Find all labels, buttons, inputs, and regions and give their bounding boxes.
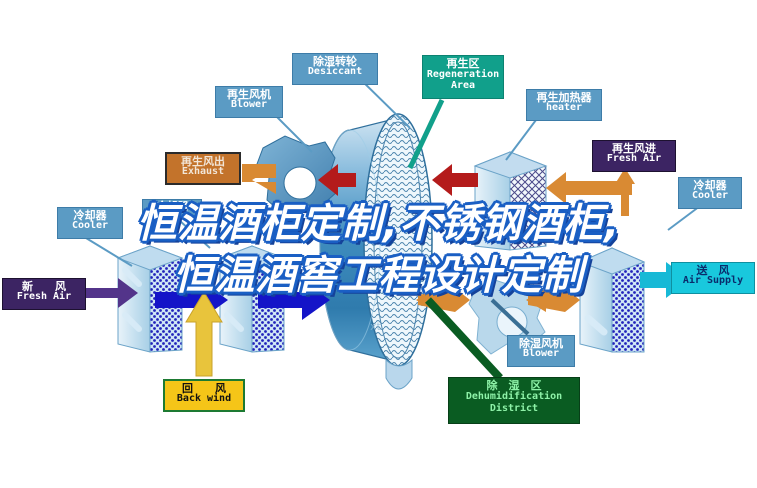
label-regeneration-blower-en: Blower [216, 100, 282, 110]
label-exhaust: 再生风出 Exhaust [165, 152, 241, 185]
regeneration-heater-unit [475, 152, 546, 250]
label-desiccant: 除湿转轮 Desiccant [292, 53, 378, 85]
label-regeneration-heater: 再生加热器 heater [526, 89, 602, 121]
schematic-illustration: xt [0, 0, 757, 488]
label-regeneration-area: 再生区 Regeneration Area [422, 55, 504, 99]
label-back-wind: 回 风 Back wind [163, 379, 245, 412]
label-regeneration-fresh-air: 再生风进 Fresh Air [592, 140, 676, 172]
supply-coil-right [580, 248, 644, 352]
label-exhaust-en: Exhaust [167, 167, 239, 177]
label-dehumidification-blower-en: Blower [508, 349, 574, 359]
label-regeneration-blower: 再生风机 Blower [215, 86, 283, 118]
arrow-regen-air-right [432, 164, 478, 196]
svg-text:xt: xt [370, 320, 382, 333]
label-fresh-air: 新 风 Fresh Air [2, 278, 86, 310]
label-dehumidification-area: 除 湿 区 Dehumidification District [448, 377, 580, 424]
label-desiccant-en: Desiccant [293, 67, 377, 77]
label-dehumidification-area-en: Dehumidification District [449, 391, 579, 415]
label-cooler-left-en: Cooler [58, 221, 122, 231]
label-air-supply-en: Air Supply [672, 276, 754, 286]
label-cooler-left: 冷却器 Cooler [57, 207, 123, 239]
label-dehumidification-blower: 除湿风机 Blower [507, 335, 575, 367]
arrow-heater-feed [546, 172, 632, 204]
label-fresh-air-en: Fresh Air [3, 292, 85, 302]
label-cooler-mid: 冷却器 [142, 199, 202, 216]
label-regeneration-fresh-air-en: Fresh Air [593, 154, 675, 164]
label-regeneration-area-cn: 再生区 [423, 58, 503, 69]
label-cooler-right: 冷却器 Cooler [678, 177, 742, 209]
diagram-canvas: xt [0, 0, 757, 488]
label-dehumidification-area-cn: 除 湿 区 [449, 380, 579, 391]
label-back-wind-en: Back wind [165, 394, 243, 404]
label-regeneration-area-en: Regeneration Area [423, 69, 503, 91]
label-cooler-mid-cn: 冷却器 [143, 201, 201, 212]
label-air-supply: 送 风 Air Supply [671, 262, 755, 294]
label-cooler-right-en: Cooler [679, 191, 741, 201]
label-regeneration-heater-en: heater [527, 103, 601, 113]
